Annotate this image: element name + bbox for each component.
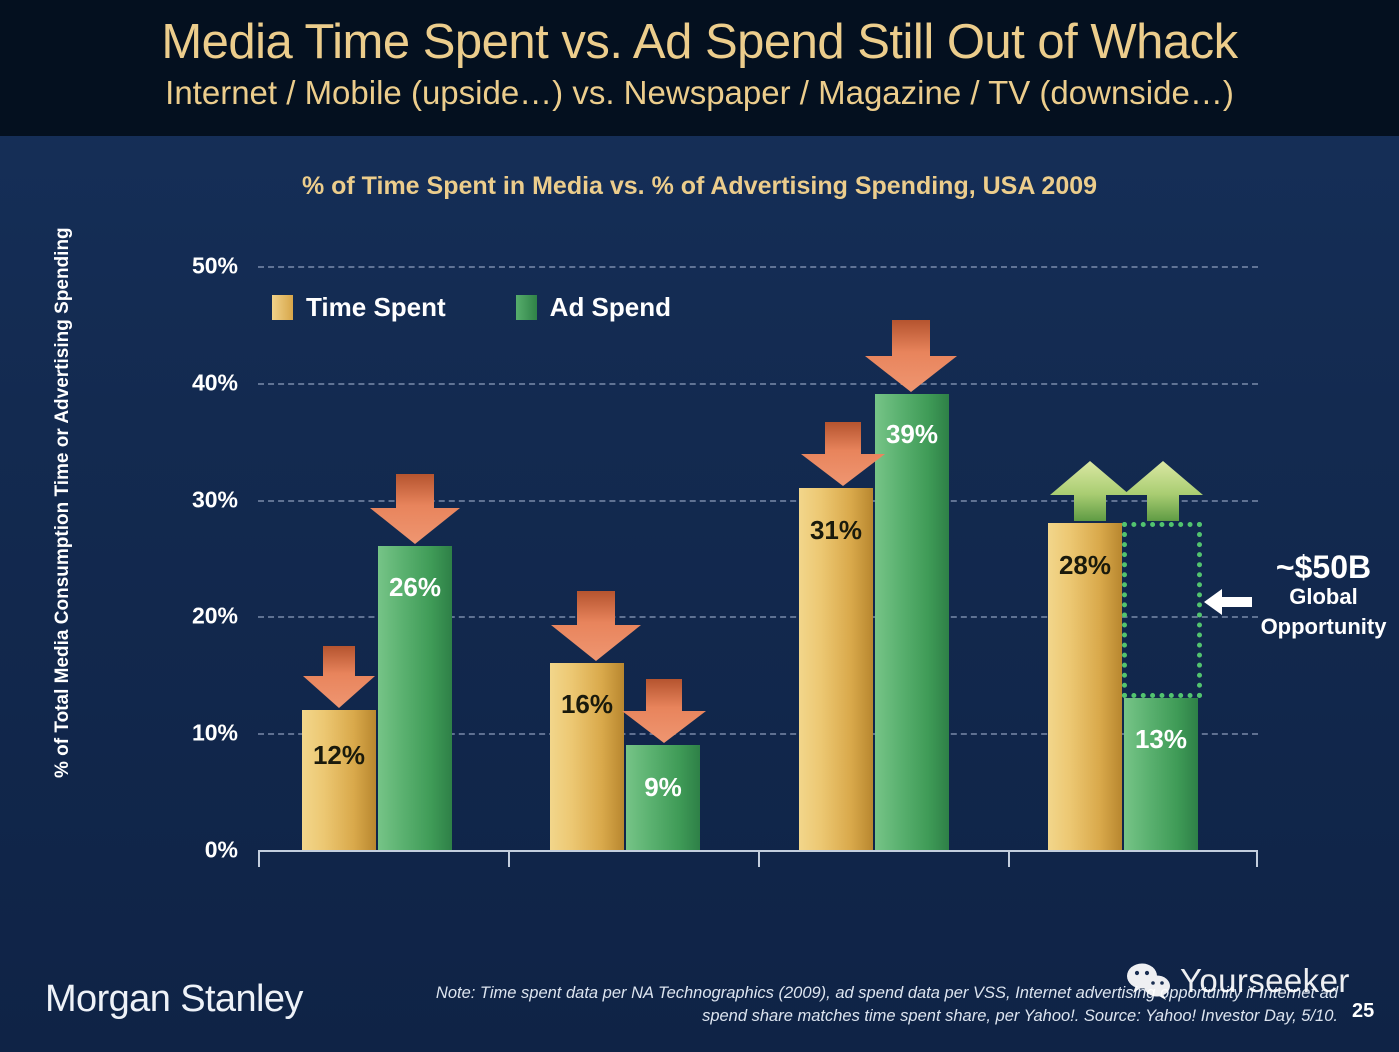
up-arrow-icon-internet-ad-spend — [1119, 461, 1207, 523]
x-axis-tick-3 — [1008, 852, 1010, 867]
bar-internet-time-spent[interactable]: 28% — [1048, 523, 1122, 850]
bar-group-radio: 16% 9% — [550, 266, 700, 850]
opportunity-desc-line1: Global — [1248, 582, 1399, 612]
plot-area: 12% 26% Print 16% — [258, 266, 1258, 850]
page-subtitle: Internet / Mobile (upside…) vs. Newspape… — [0, 74, 1399, 112]
legend-label-ad-spend: Ad Spend — [550, 292, 671, 323]
down-arrow-icon-print-time-spent — [299, 646, 379, 710]
morgan-stanley-logo: Morgan Stanley — [45, 978, 303, 1021]
y-axis-tick-labels: 50% 40% 30% 20% 10% 0% — [152, 266, 238, 850]
down-arrow-icon-tv-ad-spend — [861, 320, 961, 394]
bar-label-radio-time-spent: 16% — [550, 689, 624, 720]
down-arrow-icon-tv-time-spent — [797, 422, 889, 488]
slide: Media Time Spent vs. Ad Spend Still Out … — [0, 0, 1399, 1052]
bar-label-tv-time-spent: 31% — [799, 515, 873, 546]
bar-group-internet: 28% 13% — [1048, 266, 1198, 850]
legend-swatch-time-spent-icon — [272, 295, 293, 320]
y-tick-20: 20% — [152, 603, 238, 630]
page-title: Media Time Spent vs. Ad Spend Still Out … — [0, 14, 1399, 70]
bar-group-tv: 31% 39% — [799, 266, 949, 850]
bar-internet-ad-spend[interactable]: 13% — [1124, 698, 1198, 850]
opportunity-desc-line2: Opportunity — [1248, 612, 1399, 642]
y-tick-40: 40% — [152, 370, 238, 397]
bar-group-print: 12% 26% — [302, 266, 452, 850]
bar-print-ad-spend[interactable]: 26% — [378, 546, 452, 850]
bar-tv-time-spent[interactable]: 31% — [799, 488, 873, 850]
down-arrow-icon-radio-ad-spend — [618, 679, 710, 745]
chart-legend: Time Spent Ad Spend — [272, 292, 671, 323]
footnote: Note: Time spent data per NA Technograph… — [318, 982, 1338, 1028]
bar-radio-time-spent[interactable]: 16% — [550, 663, 624, 850]
y-tick-30: 30% — [152, 487, 238, 514]
x-axis-endcap-left — [258, 852, 260, 867]
legend-item-time-spent[interactable]: Time Spent — [272, 292, 446, 323]
x-axis — [258, 850, 1258, 868]
legend-swatch-ad-spend-icon — [516, 295, 537, 320]
bar-label-internet-time-spent: 28% — [1048, 550, 1122, 581]
bar-radio-ad-spend[interactable]: 9% — [626, 745, 700, 850]
y-tick-0: 0% — [152, 837, 238, 864]
bar-print-time-spent[interactable]: 12% — [302, 710, 376, 850]
y-axis-title: % of Total Media Consumption Time or Adv… — [50, 318, 76, 778]
footnote-line-2: spend share matches time spent share, pe… — [318, 1005, 1338, 1028]
page-number: 25 — [1352, 1000, 1374, 1023]
down-arrow-icon-radio-time-spent — [547, 591, 645, 663]
bar-label-radio-ad-spend: 9% — [626, 772, 700, 803]
legend-label-time-spent: Time Spent — [306, 292, 446, 323]
x-axis-tick-2 — [758, 852, 760, 867]
bar-label-print-time-spent: 12% — [302, 740, 376, 771]
x-axis-tick-1 — [508, 852, 510, 867]
chart-title: % of Time Spent in Media vs. % of Advert… — [0, 172, 1399, 201]
bar-label-internet-ad-spend: 13% — [1124, 724, 1198, 755]
bar-label-print-ad-spend: 26% — [378, 572, 452, 603]
opportunity-amount: ~$50B — [1248, 552, 1399, 582]
opportunity-gap-box — [1122, 522, 1202, 698]
opportunity-callout: ~$50B Global Opportunity — [1248, 552, 1399, 642]
down-arrow-icon-print-ad-spend — [366, 474, 464, 546]
left-arrow-icon-opportunity — [1204, 585, 1254, 619]
legend-item-ad-spend[interactable]: Ad Spend — [516, 292, 671, 323]
y-tick-50: 50% — [152, 253, 238, 280]
footnote-line-1: Note: Time spent data per NA Technograph… — [318, 982, 1338, 1005]
y-tick-10: 10% — [152, 720, 238, 747]
x-axis-endcap-right — [1256, 852, 1258, 867]
